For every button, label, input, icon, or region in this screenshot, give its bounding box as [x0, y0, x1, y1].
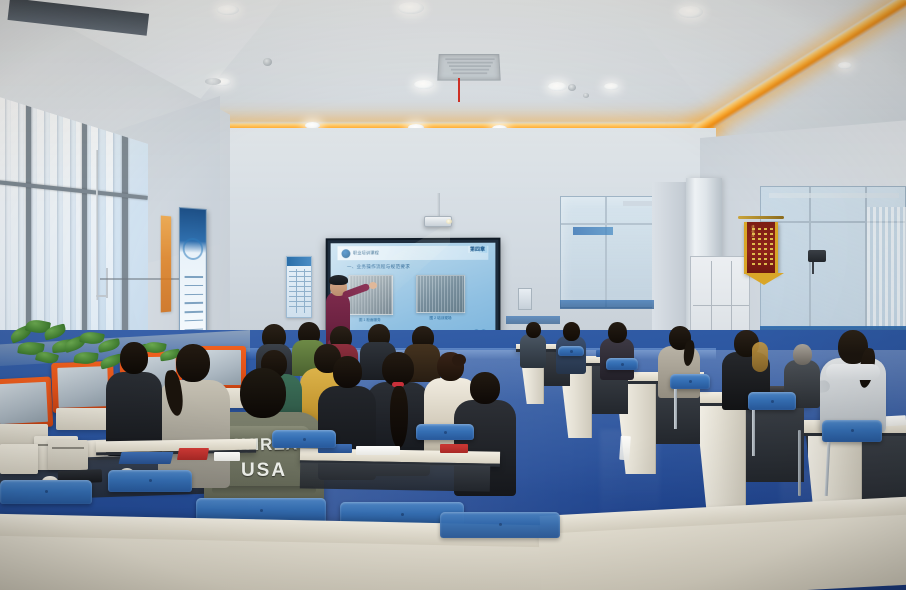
white-paper — [214, 452, 240, 461]
classroom-photo: 职业培训课程 第四章 一、业务操作流程与规范要求 图 1 柜面服务 图 2 培训… — [0, 0, 906, 590]
desk-leg — [798, 430, 801, 496]
chair-back[interactable] — [822, 420, 882, 442]
chair-leg — [752, 410, 755, 456]
chair-back[interactable] — [416, 424, 474, 440]
white-paper — [619, 436, 631, 461]
wall-conduit — [106, 268, 108, 298]
slide-chapter-label: 第四章 — [468, 246, 487, 253]
ceiling-downlight-icon — [678, 6, 703, 18]
ceiling-downlight-icon — [548, 82, 567, 91]
red-folder[interactable] — [177, 448, 209, 460]
ceiling-downlight-icon — [604, 83, 619, 90]
receipt-printer[interactable] — [0, 444, 38, 474]
student-far-right-2 — [556, 322, 586, 368]
slide-image-right — [416, 275, 466, 314]
ceiling-downlight-icon — [217, 5, 239, 15]
chair-leg — [674, 389, 677, 429]
wall-notice-board — [518, 288, 532, 310]
student-far-left — [106, 342, 162, 452]
pos-terminal[interactable] — [0, 377, 53, 430]
pos-terminal-base — [56, 408, 110, 430]
chair-back[interactable] — [748, 392, 796, 410]
chair-back[interactable] — [0, 480, 92, 504]
ceiling-speaker-icon — [205, 78, 221, 85]
chair-back[interactable] — [272, 430, 336, 448]
sprinkler-icon — [263, 58, 272, 66]
student-white-puffer — [820, 330, 886, 430]
slide-caption-left: 图 1 柜面服务 — [344, 318, 396, 323]
wall-device-icon — [808, 250, 826, 262]
slide-header-text: 职业培训课程 — [353, 250, 379, 256]
desk-front — [300, 462, 490, 491]
wall-conduit — [96, 150, 98, 300]
chair-back[interactable] — [440, 512, 560, 538]
sprinkler-icon — [583, 93, 589, 98]
ceiling-downlight-icon — [838, 62, 852, 69]
schedule-poster — [286, 256, 312, 318]
slide-header: 职业培训课程 — [337, 246, 489, 261]
orange-poster — [161, 216, 171, 313]
wall-device-cable — [812, 262, 814, 274]
chair-back[interactable] — [670, 374, 710, 389]
award-pennant: 感谢锦旗 — [744, 222, 778, 274]
student-far-right-3 — [520, 322, 546, 362]
pennant-rod — [738, 216, 784, 219]
white-paper — [356, 446, 400, 455]
wall-accent-stripe — [560, 300, 654, 309]
blue-folder[interactable] — [119, 452, 174, 464]
fur-hood-trim — [752, 342, 768, 372]
projector-lens-icon — [446, 219, 452, 224]
ac-vent-icon — [437, 54, 500, 81]
slide-caption-right: 图 2 培训现场 — [414, 316, 467, 321]
chair-back[interactable] — [558, 346, 584, 356]
glass-signage — [573, 227, 613, 235]
red-folder[interactable] — [440, 444, 468, 453]
instructor-cap — [329, 275, 348, 285]
slide-logo-icon — [341, 249, 350, 258]
receipt-printer[interactable] — [48, 440, 88, 470]
glass-partition-right — [760, 186, 906, 328]
vent-cord — [458, 78, 460, 102]
pennant-text: 感谢锦旗 — [751, 225, 755, 237]
instructor-hand — [369, 282, 377, 289]
slide-bullet-text: 一、业务操作流程与规范要求 — [347, 264, 410, 270]
chair-back[interactable] — [606, 358, 638, 370]
ceiling-downlight-icon — [398, 2, 424, 14]
sprinkler-icon — [568, 84, 576, 91]
ceiling-downlight-icon — [414, 80, 434, 89]
window-blinds-far — [867, 207, 906, 329]
chair-back[interactable] — [108, 470, 192, 492]
ceiling-light-reflection — [769, 193, 899, 198]
